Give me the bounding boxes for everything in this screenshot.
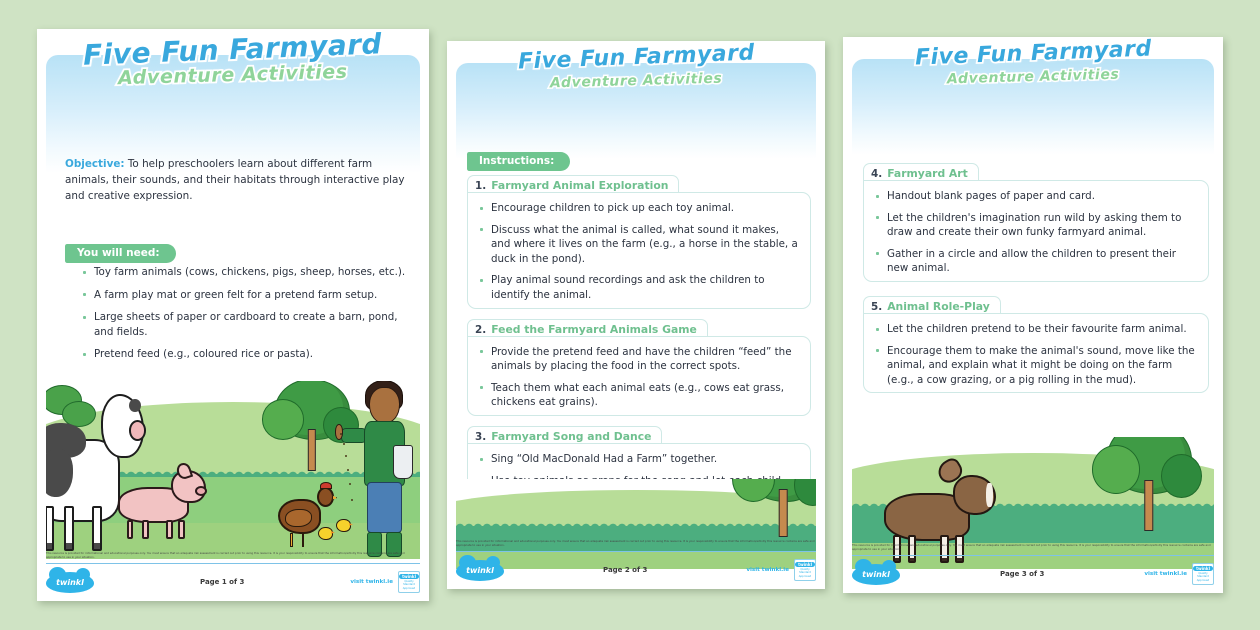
cow-leg bbox=[92, 506, 102, 551]
twinkl-logo-icon[interactable]: twinkl bbox=[456, 560, 504, 581]
objective-label: Objective: bbox=[65, 158, 125, 170]
footer-bar: twinkl Page 3 of 3 visit twinkl.ie twink… bbox=[852, 561, 1214, 587]
feed-seed bbox=[349, 483, 351, 485]
page-header-banner bbox=[852, 59, 1214, 155]
step-header: 1. Farmyard Animal Exploration bbox=[467, 175, 679, 193]
chick-body bbox=[318, 527, 333, 540]
step-title: Farmyard Animal Exploration bbox=[491, 179, 668, 192]
pig-leg bbox=[178, 520, 185, 539]
step-bullets: Handout blank pages of paper and card. L… bbox=[874, 189, 1198, 276]
step-5: 5. Animal Role-Play Let the children pre… bbox=[863, 296, 1209, 393]
step-1: 1. Farmyard Animal Exploration Encourage… bbox=[467, 175, 811, 309]
visit-link[interactable]: visit twinkl.ie bbox=[350, 579, 393, 585]
tree-canopy-left bbox=[1092, 445, 1140, 493]
visit-link[interactable]: visit twinkl.ie bbox=[746, 567, 789, 573]
footer-right: visit twinkl.ie twinkl Quality Standard … bbox=[746, 559, 816, 581]
list-item: Pretend feed (e.g., coloured rice or pas… bbox=[81, 347, 407, 362]
quality-badge-icon: twinkl Quality Standard Approved bbox=[794, 559, 816, 581]
cow-hoof bbox=[47, 543, 53, 549]
footer-right: visit twinkl.ie twinkl Quality Standard … bbox=[350, 571, 420, 593]
tree-icon bbox=[1106, 437, 1192, 531]
cow-leg bbox=[46, 506, 54, 551]
tree-trunk bbox=[1144, 480, 1153, 531]
list-item: Let the children pretend to be their fav… bbox=[874, 322, 1198, 337]
step-number: 1. bbox=[475, 180, 486, 192]
twinkl-logo-text: twinkl bbox=[862, 570, 890, 579]
step-header: 5. Animal Role-Play bbox=[863, 296, 1001, 314]
quality-badge-icon: twinkl Quality Standard Approved bbox=[1192, 563, 1214, 585]
badge-top-text: twinkl bbox=[1193, 566, 1213, 571]
pig-leg bbox=[142, 520, 149, 539]
pig-snout bbox=[195, 486, 207, 496]
list-item: Teach them what each animal eats (e.g., … bbox=[478, 381, 800, 410]
step-bullets: Encourage children to pick up each toy a… bbox=[478, 201, 800, 303]
badge-bottom-text: Quality Standard Approved bbox=[1194, 572, 1212, 581]
page-number: Page 3 of 3 bbox=[1000, 570, 1044, 578]
cow-hoof bbox=[66, 543, 72, 549]
tree-canopy-right bbox=[794, 479, 816, 506]
step-2: 2. Feed the Farmyard Animals Game Provid… bbox=[467, 319, 811, 416]
badge-top-text: twinkl bbox=[795, 562, 815, 567]
list-item: Large sheets of paper or cardboard to cr… bbox=[81, 310, 407, 339]
step-body: Provide the pretend feed and have the ch… bbox=[467, 336, 811, 416]
feed-seed bbox=[340, 433, 342, 435]
list-item: Discuss what the animal is called, what … bbox=[478, 223, 800, 267]
farmer-legs bbox=[367, 482, 403, 533]
pig-illustration bbox=[118, 467, 204, 539]
tree-canopy-right bbox=[1161, 454, 1202, 498]
page-footer: This resource is provided for informatio… bbox=[456, 540, 816, 583]
badge-top-text: twinkl bbox=[399, 574, 419, 579]
step-number: 5. bbox=[871, 301, 882, 313]
footer-divider bbox=[456, 551, 816, 552]
step-body: Let the children pretend to be their fav… bbox=[863, 313, 1209, 393]
step-number: 3. bbox=[475, 431, 486, 443]
visit-link[interactable]: visit twinkl.ie bbox=[1144, 571, 1187, 577]
page-number: Page 1 of 3 bbox=[200, 578, 244, 586]
quality-badge-icon: twinkl Quality Standard Approved bbox=[398, 571, 420, 593]
goat-head bbox=[953, 475, 996, 515]
twinkl-logo-text: twinkl bbox=[56, 578, 84, 587]
footer-disclaimer: This resource is provided for informatio… bbox=[46, 552, 420, 560]
steps-list-page2: 1. Farmyard Animal Exploration Encourage… bbox=[467, 175, 811, 513]
feed-seed bbox=[351, 499, 353, 501]
list-item: Play animal sound recordings and ask the… bbox=[478, 273, 800, 302]
step-header: 4. Farmyard Art bbox=[863, 163, 979, 181]
footer-right: visit twinkl.ie twinkl Quality Standard … bbox=[1144, 563, 1214, 585]
step-title: Farmyard Art bbox=[887, 167, 968, 180]
instructions-heading: Instructions: bbox=[467, 149, 570, 171]
page1-illustration bbox=[46, 381, 420, 559]
steps-list-page3: 4. Farmyard Art Handout blank pages of p… bbox=[863, 163, 1209, 397]
objective-block: Objective: To help preschoolers learn ab… bbox=[65, 157, 409, 204]
page-header-banner bbox=[456, 63, 816, 159]
list-item: Handout blank pages of paper and card. bbox=[874, 189, 1198, 204]
list-item: Sing “Old MacDonald Had a Farm” together… bbox=[478, 452, 800, 467]
step-number: 2. bbox=[475, 324, 486, 336]
feed-seed bbox=[347, 469, 349, 471]
pig-leg bbox=[127, 520, 134, 539]
farmer-arm-left bbox=[341, 428, 366, 443]
instructions-pill: Instructions: bbox=[467, 152, 570, 172]
footer-bar: twinkl Page 1 of 3 visit twinkl.ie twink… bbox=[46, 569, 420, 595]
feed-seed bbox=[345, 455, 347, 457]
badge-bottom-text: Quality Standard Approved bbox=[400, 580, 418, 589]
list-item: Encourage them to make the animal's soun… bbox=[874, 344, 1198, 388]
footer-divider bbox=[46, 563, 420, 564]
tree-canopy-left bbox=[262, 399, 305, 439]
step-header: 2. Feed the Farmyard Animals Game bbox=[467, 319, 708, 337]
footer-disclaimer: This resource is provided for informatio… bbox=[852, 544, 1214, 552]
step-bullets: Provide the pretend feed and have the ch… bbox=[478, 345, 800, 410]
page-footer: This resource is provided for informatio… bbox=[852, 544, 1214, 587]
tree-trunk bbox=[779, 489, 788, 537]
tree-trunk bbox=[308, 429, 316, 471]
footer-bar: twinkl Page 2 of 3 visit twinkl.ie twink… bbox=[456, 557, 816, 583]
footer-divider bbox=[852, 555, 1214, 556]
cow-leg bbox=[64, 506, 74, 551]
chick-illustration bbox=[318, 527, 333, 540]
feed-bucket-icon bbox=[393, 445, 413, 479]
list-item: Encourage children to pick up each toy a… bbox=[478, 201, 800, 216]
materials-list: Toy farm animals (cows, chickens, pigs, … bbox=[81, 265, 407, 370]
step-body: Encourage children to pick up each toy a… bbox=[467, 192, 811, 309]
chick-body bbox=[336, 519, 351, 532]
step-4: 4. Farmyard Art Handout blank pages of p… bbox=[863, 163, 1209, 282]
step-body: Handout blank pages of paper and card. L… bbox=[863, 180, 1209, 282]
tree-icon bbox=[744, 479, 816, 537]
list-item: Let the children's imagination run wild … bbox=[874, 211, 1198, 240]
step-number: 4. bbox=[871, 168, 882, 180]
hen-comb bbox=[320, 482, 332, 490]
page-number: Page 2 of 3 bbox=[603, 566, 647, 574]
list-item: A farm play mat or green felt for a pret… bbox=[81, 288, 407, 303]
step-bullets: Let the children pretend to be their fav… bbox=[874, 322, 1198, 387]
hen-head bbox=[317, 487, 334, 507]
step-title: Animal Role-Play bbox=[887, 300, 990, 313]
page-footer: This resource is provided for informatio… bbox=[46, 552, 420, 595]
cow-muzzle bbox=[129, 420, 146, 441]
worksheet-preview-workspace: Five Fun Farmyard Adventure Activities O… bbox=[0, 0, 1260, 630]
worksheet-page-2[interactable]: Five Fun Farmyard Adventure Activities I… bbox=[447, 41, 825, 589]
twinkl-logo-text: twinkl bbox=[466, 566, 494, 575]
hen-leg bbox=[302, 533, 305, 547]
page-header-banner bbox=[46, 55, 420, 173]
feed-seed bbox=[343, 443, 345, 445]
hen-wing bbox=[285, 509, 312, 527]
badge-bottom-text: Quality Standard Approved bbox=[796, 568, 814, 577]
step-header: 3. Farmyard Song and Dance bbox=[467, 426, 662, 444]
step-title: Feed the Farmyard Animals Game bbox=[491, 323, 697, 336]
twinkl-logo-icon[interactable]: twinkl bbox=[852, 564, 900, 585]
farmer-illustration bbox=[352, 387, 418, 557]
list-item: Provide the pretend feed and have the ch… bbox=[478, 345, 800, 374]
worksheet-page-3[interactable]: Five Fun Farmyard Adventure Activities 4… bbox=[843, 37, 1223, 593]
pig-leg bbox=[166, 520, 173, 539]
chick-illustration bbox=[336, 519, 351, 532]
farmer-head bbox=[369, 387, 399, 424]
goat-face-stripe bbox=[986, 483, 992, 507]
you-will-need-heading: You will need: bbox=[65, 241, 176, 263]
cow-hoof bbox=[94, 543, 100, 549]
twinkl-logo-icon[interactable]: twinkl bbox=[46, 572, 94, 593]
list-item: Gather in a circle and allow the childre… bbox=[874, 247, 1198, 276]
worksheet-page-1[interactable]: Five Fun Farmyard Adventure Activities O… bbox=[37, 29, 429, 601]
hen-leg bbox=[290, 533, 293, 547]
footer-disclaimer: This resource is provided for informatio… bbox=[456, 540, 816, 548]
step-title: Farmyard Song and Dance bbox=[491, 430, 651, 443]
you-will-need-pill: You will need: bbox=[65, 244, 176, 264]
list-item: Toy farm animals (cows, chickens, pigs, … bbox=[81, 265, 407, 280]
cow-head-patch bbox=[129, 399, 141, 412]
